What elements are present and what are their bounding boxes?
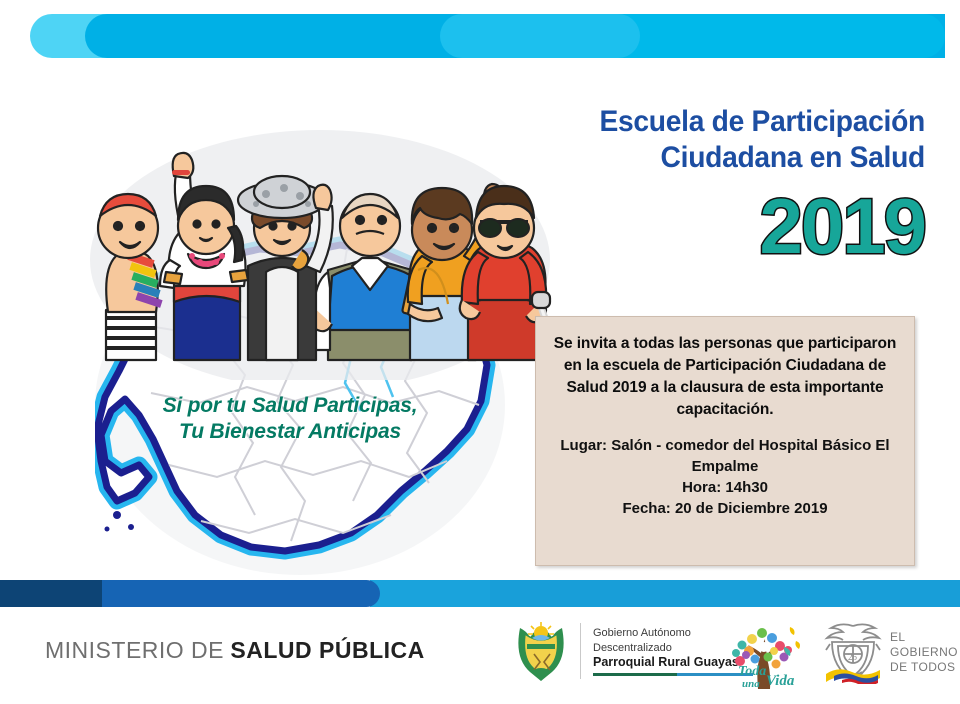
toda-una-vida-logo: Toda una Vida <box>718 617 804 693</box>
banner-segment-right <box>600 14 945 58</box>
event-info-box: Se invita a todas las personas que parti… <box>535 316 915 566</box>
tuv-word-toda: Toda <box>738 664 766 679</box>
slogan-line-2: Tu Bienestar Anticipas <box>120 419 460 445</box>
gobierno-line-2: GOBIERNO <box>890 645 958 660</box>
ecuador-coat-of-arms-icon: 25 <box>822 620 884 684</box>
people-illustration <box>70 60 570 380</box>
ministry-logo-thin: MINISTERIO DE <box>45 637 224 663</box>
gobierno-text-block: EL GOBIERNO DE TODOS <box>890 630 958 675</box>
gobierno-line-1: EL <box>890 630 958 645</box>
gad-parroquial-logo: Gobierno Autónomo Descentralizado Parroq… <box>512 620 753 682</box>
slogan-line-1: Si por tu Salud Participas, <box>120 393 460 419</box>
event-date: Fecha: 20 de Diciembre 2019 <box>550 498 900 519</box>
poster-title: Escuela de Participación Ciudadana en Sa… <box>505 104 925 176</box>
ministry-of-health-logo: MINISTERIO DE SALUD PÚBLICA <box>45 637 425 663</box>
banner-segment-center <box>440 14 640 58</box>
poster-canvas: Si por tu Salud Participas, Tu Bienestar… <box>0 0 960 704</box>
people-group-svg <box>70 60 570 380</box>
bottom-color-band <box>0 580 960 607</box>
title-line-1: Escuela de Participación <box>530 104 925 140</box>
gobierno-de-todos-logo: 25 EL GOBIERNO DE TODOS <box>822 620 958 684</box>
title-line-2: Ciudadana en Salud <box>530 140 925 176</box>
event-time: Hora: 14h30 <box>550 477 900 498</box>
guayas-coat-of-arms-icon <box>512 620 570 682</box>
gobierno-line-3: DE TODOS <box>890 660 958 675</box>
band-segment-light-2 <box>490 580 960 607</box>
person-amazonian-boy <box>98 194 163 360</box>
band-segment-navy <box>0 580 102 607</box>
banner-segment-left <box>85 14 305 58</box>
poster-year: 2019 <box>505 186 925 266</box>
invitation-text: Se invita a todas las personas que parti… <box>550 333 900 421</box>
event-place: Lugar: Salón - comedor del Hospital Bási… <box>550 435 900 477</box>
logo-divider <box>580 623 581 679</box>
event-details: Lugar: Salón - comedor del Hospital Bási… <box>550 435 900 519</box>
top-decorative-banner <box>0 14 960 58</box>
toda-una-vida-tree-icon: Toda una Vida <box>718 617 804 693</box>
tuv-word-vida: Vida <box>766 673 795 689</box>
gad-underline-green <box>593 673 677 676</box>
tuv-word-una: una <box>742 678 760 690</box>
poster-slogan: Si por tu Salud Participas, Tu Bienestar… <box>120 393 460 445</box>
ministry-logo-bold: SALUD PÚBLICA <box>230 637 424 663</box>
band-segment-blue <box>100 580 380 607</box>
svg-text:25: 25 <box>848 652 858 662</box>
